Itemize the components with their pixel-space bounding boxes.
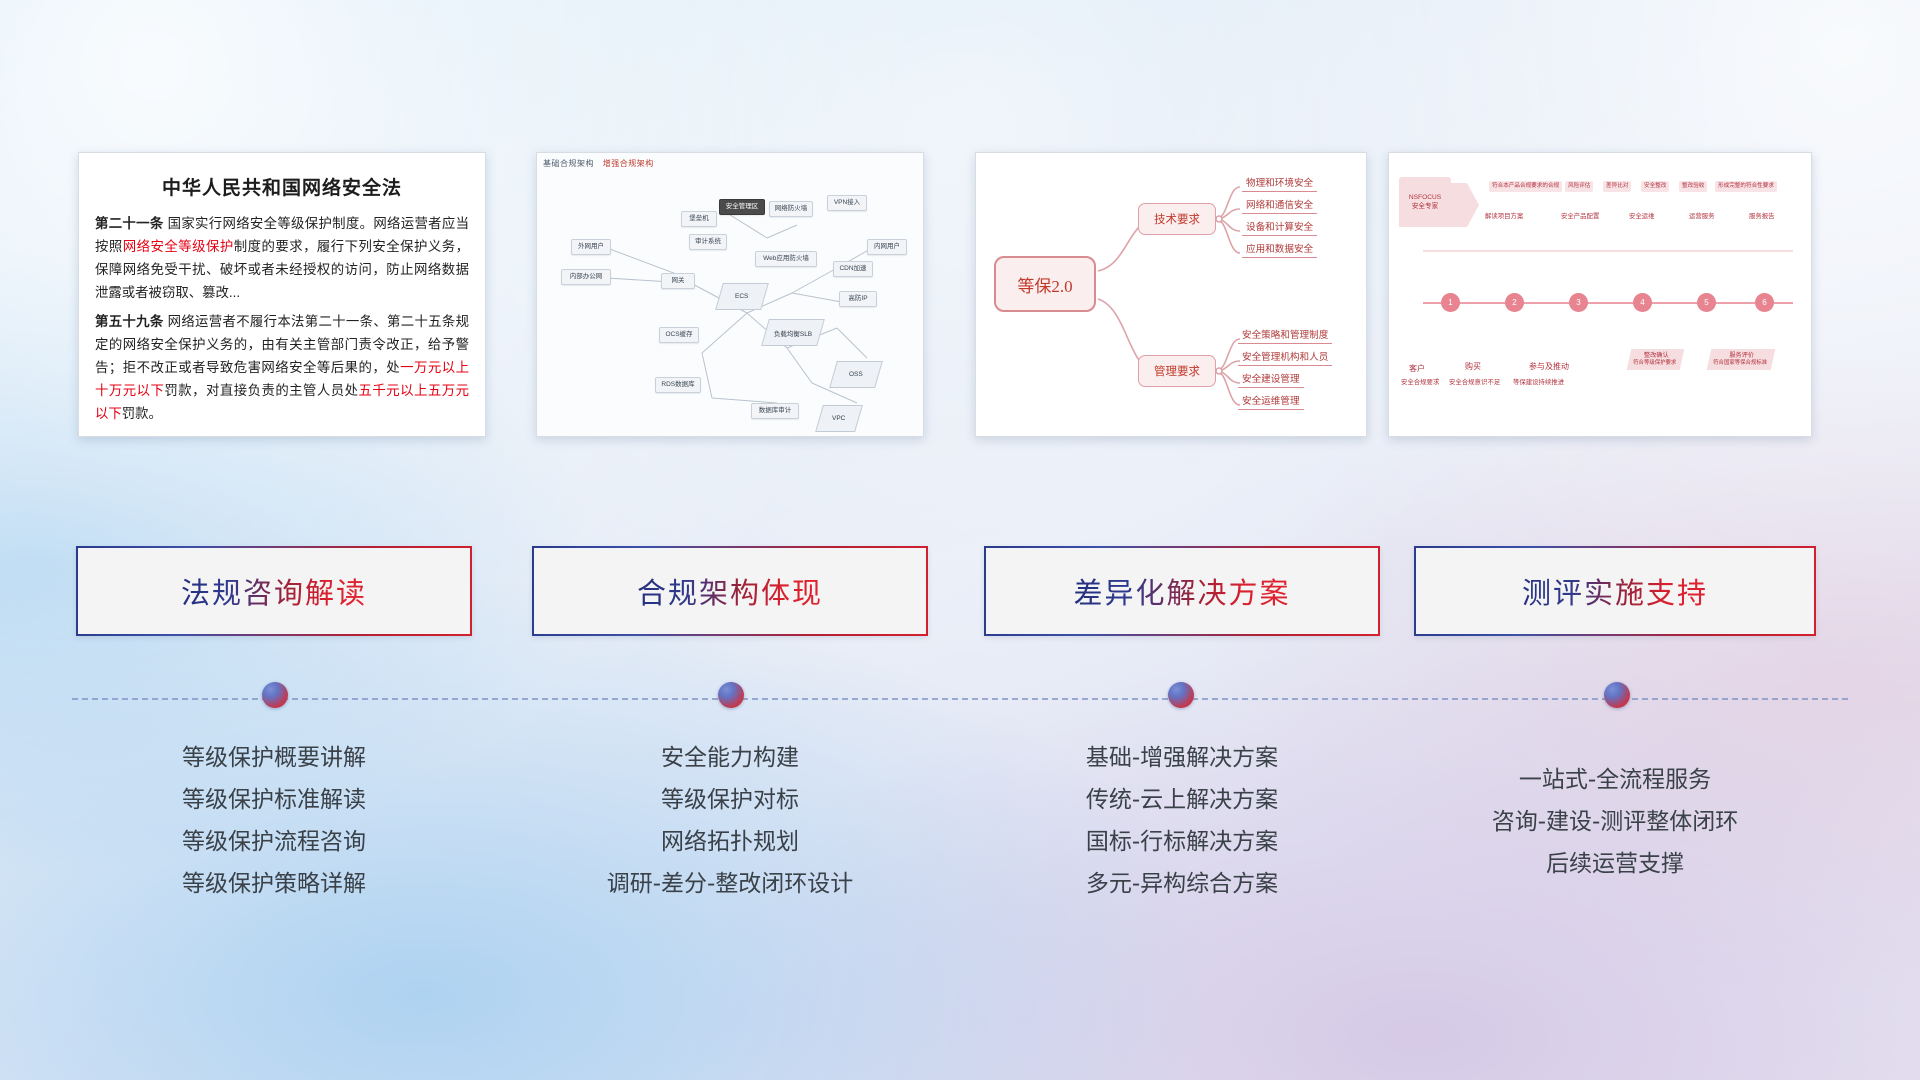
label-box-differentiated-solution[interactable]: 差异化解决方案 — [984, 546, 1380, 636]
detail-lists-row: 等级保护概要讲解 等级保护标准解读 等级保护流程咨询 等级保护策略详解 安全能力… — [0, 738, 1920, 938]
node-rds-database: RDS数据库 — [655, 377, 701, 393]
law-article-21-label: 第二十一条 — [95, 216, 164, 231]
node-slb: 负载均衡SLB — [761, 319, 825, 346]
list-item: 等级保护对标 — [532, 780, 928, 822]
node-cloud-shield: 网络防火墙 — [769, 201, 813, 217]
roadmap-bottom-label-0: 购买 — [1465, 361, 1481, 372]
node-db-audit: 数据库审计 — [751, 403, 799, 419]
roadmap-actor-label: 客户 — [1409, 363, 1425, 374]
list-item: 等级保护流程咨询 — [76, 822, 472, 864]
roadmap-bottom-sub-1: 等保建设持续推进 — [1513, 377, 1564, 386]
node-ecs: ECS — [715, 283, 769, 310]
roadmap-diagram: NSFOCUS安全专家 符合本产品合规要求的合规 风险评估 差异比对 安全整改 … — [1389, 153, 1811, 436]
roadmap-step-2: 2 — [1505, 293, 1524, 312]
node-oss: OSS — [829, 361, 883, 388]
roadmap-tag-0-line2: 符合等级保护要求 — [1633, 360, 1676, 367]
list-item: 基础-增强解决方案 — [984, 738, 1380, 780]
service-label-row: 法规咨询解读 合规架构体现 差异化解决方案 测评实施支持 — [0, 546, 1920, 638]
timeline-dot-3[interactable] — [1168, 682, 1194, 708]
label-box-regulation-consulting[interactable]: 法规咨询解读 — [76, 546, 472, 636]
roadmap-step-5: 5 — [1697, 293, 1716, 312]
card-cybersecurity-law: 中华人民共和国网络安全法 第二十一条 国家实行网络安全等级保护制度。网络运营者应… — [78, 152, 486, 437]
mindmap-leaf-physical-env: 物理和环境安全 — [1242, 175, 1317, 192]
label-text-differentiated-solution: 差异化解决方案 — [1073, 570, 1290, 612]
list-item: 等级保护概要讲解 — [76, 738, 472, 780]
roadmap-bottom-label-1: 参与及推动 — [1529, 361, 1569, 372]
roadmap-tag-1-line1: 服务评价 — [1715, 352, 1769, 360]
node-audit: 审计系统 — [689, 234, 727, 250]
roadmap-phase-1: 安全产品配置 — [1561, 211, 1599, 220]
mindmap-root: 等保2.0 — [994, 256, 1096, 312]
roadmap-phase-2: 安全运维 — [1629, 211, 1655, 220]
list-item: 一站式-全流程服务 — [1414, 760, 1816, 802]
list-item: 等级保护策略详解 — [76, 864, 472, 906]
roadmap-chip-1: 风险评估 — [1565, 181, 1593, 192]
mindmap-leaf-ops-mgmt: 安全运维管理 — [1238, 393, 1304, 410]
card-cloud-architecture: 基础合规架构 增强合规架构 外网用户 内部办公网 安全管理区 — [536, 152, 924, 437]
list-item: 后续运营支撑 — [1414, 844, 1816, 886]
law-article-21: 第二十一条 国家实行网络安全等级保护制度。网络运营者应当按照网络安全等级保护制度… — [95, 212, 469, 304]
node-office-network: 内部办公网 — [561, 269, 611, 285]
list-item: 等级保护标准解读 — [76, 780, 472, 822]
feature-cards-row: 中华人民共和国网络安全法 第二十一条 国家实行网络安全等级保护制度。网络运营者应… — [0, 0, 1920, 440]
node-bastion: 堡垒机 — [681, 211, 717, 227]
roadmap-tag-0-line1: 整改确认 — [1635, 352, 1678, 360]
detail-column-4: 一站式-全流程服务 咨询-建设-测评整体闭环 后续运营支撑 — [1414, 760, 1816, 886]
node-vpc: VPC — [815, 405, 863, 432]
timeline — [0, 690, 1920, 720]
law-article-59: 第五十九条 网络运营者不履行本法第二十一条、第二十五条规定的网络安全保护义务的，… — [95, 310, 469, 425]
label-text-compliance-architecture: 合规架构体现 — [637, 570, 823, 612]
timeline-dot-2[interactable] — [718, 682, 744, 708]
architecture-diagram: 基础合规架构 增强合规架构 外网用户 内部办公网 安全管理区 — [537, 153, 923, 436]
roadmap-bottom-sub-0: 安全合规意识不足 — [1449, 377, 1500, 386]
detail-column-1: 等级保护概要讲解 等级保护标准解读 等级保护流程咨询 等级保护策略详解 — [76, 738, 472, 905]
list-item: 网络拓扑规划 — [532, 822, 928, 864]
mindmap-leaf-device-compute: 设备和计算安全 — [1242, 219, 1317, 236]
detail-column-3: 基础-增强解决方案 传统-云上解决方案 国标-行标解决方案 多元-异构综合方案 — [984, 738, 1380, 905]
node-vpn: VPN接入 — [827, 195, 867, 211]
list-item: 国标-行标解决方案 — [984, 822, 1380, 864]
roadmap-chip-2: 差异比对 — [1603, 181, 1631, 192]
list-item: 咨询-建设-测评整体闭环 — [1414, 802, 1816, 844]
law-article-59-text-c: 罚款。 — [122, 406, 162, 421]
label-box-compliance-architecture[interactable]: 合规架构体现 — [532, 546, 928, 636]
roadmap-chip-0: 符合本产品合规要求的合规 — [1489, 181, 1562, 192]
node-waf: Web应用防火墙 — [755, 251, 817, 267]
roadmap-tag-1: 服务评价 符合国家等保合规标准 — [1707, 349, 1775, 370]
roadmap-chip-5: 形成完整的符合性要求 — [1715, 181, 1777, 192]
mindmap-branch-management: 管理要求 — [1138, 355, 1216, 387]
roadmap-phase-0: 解读项目方案 — [1485, 211, 1523, 220]
roadmap-tag-0: 整改确认 符合等级保护要求 — [1627, 349, 1685, 370]
roadmap-phase-4: 服务报告 — [1749, 211, 1775, 220]
label-box-assessment-support[interactable]: 测评实施支持 — [1414, 546, 1816, 636]
timeline-dot-1[interactable] — [262, 682, 288, 708]
roadmap-badge-nsfocus: NSFOCUS安全专家 — [1399, 177, 1451, 223]
node-ocs-cache: OCS缓存 — [659, 327, 699, 343]
roadmap-chip-3: 安全整改 — [1641, 181, 1669, 192]
node-anti-ddos: 高防IP — [839, 291, 877, 307]
mindmap-branch-technical: 技术要求 — [1138, 203, 1216, 235]
node-cdn: CDN加速 — [833, 261, 873, 277]
mindmap-leaf-network-comm: 网络和通信安全 — [1242, 197, 1317, 214]
mindmap-leaf-org-personnel: 安全管理机构和人员 — [1238, 349, 1332, 366]
roadmap-chip-4: 整改验收 — [1679, 181, 1707, 192]
mindmap-leaf-app-data: 应用和数据安全 — [1242, 241, 1317, 258]
list-item: 调研-差分-整改闭环设计 — [532, 864, 928, 906]
law-article-21-highlight: 网络安全等级保护 — [123, 239, 234, 254]
card-service-roadmap: NSFOCUS安全专家 符合本产品合规要求的合规 风险评估 差异比对 安全整改 … — [1388, 152, 1812, 437]
mindmap-diagram: 等保2.0 技术要求 物理和环境安全 网络和通信安全 设备和计算安全 应用和数据… — [976, 153, 1366, 436]
card-mindmap-dengbao: 等保2.0 技术要求 物理和环境安全 网络和通信安全 设备和计算安全 应用和数据… — [975, 152, 1367, 437]
roadmap-tag-1-line2: 符合国家等保合规标准 — [1713, 360, 1767, 367]
node-internal-user: 内网用户 — [867, 239, 907, 255]
timeline-line — [72, 698, 1848, 700]
timeline-dot-4[interactable] — [1604, 682, 1630, 708]
node-gateway: 网关 — [661, 273, 695, 289]
law-article-59-label: 第五十九条 — [95, 314, 164, 329]
list-item: 传统-云上解决方案 — [984, 780, 1380, 822]
mindmap-leaf-build-mgmt: 安全建设管理 — [1238, 371, 1304, 388]
mindmap-leaf-policy: 安全策略和管理制度 — [1238, 327, 1332, 344]
roadmap-step-1: 1 — [1441, 293, 1460, 312]
detail-column-2: 安全能力构建 等级保护对标 网络拓扑规划 调研-差分-整改闭环设计 — [532, 738, 928, 905]
roadmap-actor-sub: 安全合规要求 — [1401, 377, 1439, 386]
law-article-59-text-b: 罚款，对直接负责的主管人员处 — [164, 383, 358, 398]
roadmap-step-6: 6 — [1755, 293, 1774, 312]
node-external-user: 外网用户 — [571, 239, 611, 255]
roadmap-step-3: 3 — [1569, 293, 1588, 312]
law-title: 中华人民共和国网络安全法 — [95, 173, 469, 200]
roadmap-phase-3: 运营服务 — [1689, 211, 1715, 220]
node-security-zone: 安全管理区 — [719, 199, 765, 215]
label-text-assessment-support: 测评实施支持 — [1522, 570, 1708, 612]
list-item: 多元-异构综合方案 — [984, 864, 1380, 906]
label-text-regulation-consulting: 法规咨询解读 — [181, 570, 367, 612]
list-item: 安全能力构建 — [532, 738, 928, 780]
roadmap-step-4: 4 — [1633, 293, 1652, 312]
